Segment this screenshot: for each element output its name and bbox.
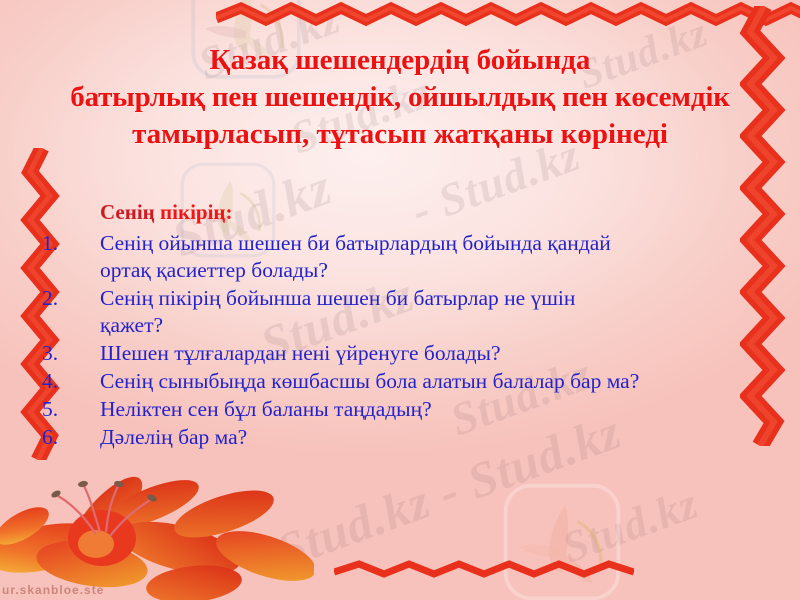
list-item-text: Сенің ойынша шешен би батырлардың бойынд… [100, 231, 611, 282]
list-item-text: Шешен тұлғалардан нені үйренуге болады? [100, 341, 501, 365]
list-item: 1.Сенің ойынша шешен би батырлардың бойы… [38, 230, 778, 284]
title-line-1: Қазақ шешендердің бойында [20, 42, 780, 79]
questions-heading-rest: пікірің: [155, 200, 233, 224]
zigzag-border-bottom-icon [334, 556, 634, 582]
question-list: 1.Сенің ойынша шешен би батырлардың бойы… [38, 230, 778, 452]
hummingbird-logo-icon [498, 478, 626, 600]
list-item-number: 2. [42, 285, 88, 312]
list-item-text: Сенің пікірің бойынша шешен би батырлар … [100, 286, 575, 337]
list-item: 4.Сенің сыныбыңда көшбасшы бола алатын б… [38, 368, 778, 395]
list-item-text: Неліктен сен бұл баланы таңдадың? [100, 397, 432, 421]
list-item-text: Сенің сыныбыңда көшбасшы бола алатын бал… [100, 369, 639, 393]
questions-heading: Сенің пікірің: [100, 200, 233, 225]
list-item-number: 4. [42, 368, 88, 395]
list-item: 2.Сенің пікірің бойынша шешен би батырла… [38, 285, 778, 339]
list-item-number: 5. [42, 396, 88, 423]
red-lily-flowers-image [0, 452, 314, 600]
list-item: 6.Дәлелің бар ма? [38, 424, 778, 451]
zigzag-border-top-icon [216, 0, 800, 34]
list-item: 5.Неліктен сен бұл баланы таңдадың? [38, 396, 778, 423]
questions-heading-first-word: Сенің [100, 200, 155, 224]
list-item-number: 6. [42, 424, 88, 451]
footer-source-text: ur.skanbloe.ste [2, 583, 104, 597]
list-item: 3.Шешен тұлғалардан нені үйренуге болады… [38, 340, 778, 367]
list-item-number: 3. [42, 340, 88, 367]
watermark-text: Stud.kz [556, 478, 705, 574]
title-line-2: батырлық пен шешендік, ойшылдық пен көсе… [20, 79, 780, 116]
slide-title: Қазақ шешендердің бойында батырлық пен ш… [20, 42, 780, 153]
title-line-3: тамырласып, тұтасып жатқаны көрінеді [20, 116, 780, 153]
list-item-text: Дәлелің бар ма? [100, 425, 247, 449]
slide-canvas: Stud.kz Stud.kz Stud.kz - Stud.kz Stud.k… [0, 0, 800, 600]
list-item-number: 1. [42, 230, 88, 257]
